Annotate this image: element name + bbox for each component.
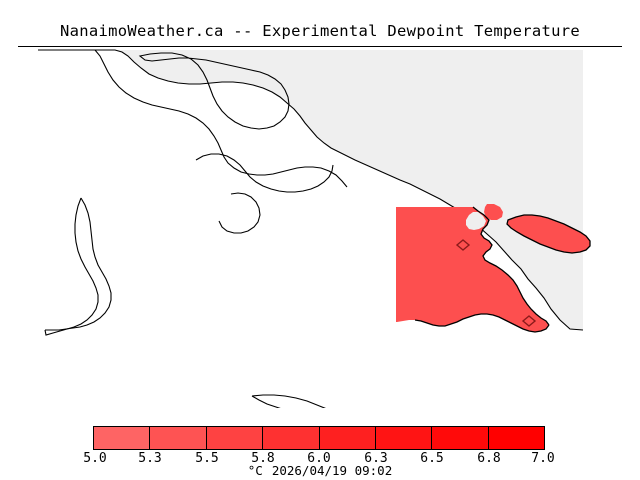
colorbar-segment-7 [432, 427, 488, 449]
colorbar-caption: °C2026/04/19 09:02 [0, 463, 640, 478]
colorbar-segment-1 [94, 427, 150, 449]
page-title: NanaimoWeather.ca -- Experimental Dewpoi… [0, 22, 640, 40]
colorbar-segment-5 [320, 427, 376, 449]
title-divider [18, 46, 622, 47]
map-graphic [0, 48, 640, 408]
map-canvas[interactable] [0, 48, 640, 408]
colorbar-segment-4 [263, 427, 319, 449]
coastline-island-south-chain [252, 395, 378, 408]
weather-map-page: NanaimoWeather.ca -- Experimental Dewpoi… [0, 0, 640, 480]
colorbar-segment-8 [489, 427, 544, 449]
coastline-island-south-chain-lower [252, 396, 378, 408]
timestamp-label: 2026/04/19 09:02 [272, 463, 392, 478]
colorbar-segment-6 [376, 427, 432, 449]
colorbar-segment-2 [150, 427, 206, 449]
colorbar-segment-3 [207, 427, 263, 449]
coastline-peninsula-mid [196, 154, 333, 192]
coastline-island-west-strip [45, 198, 111, 330]
coastline-island-west-strip-inner [45, 198, 98, 335]
colorbar[interactable] [93, 426, 545, 450]
units-label: °C [248, 463, 263, 478]
coastline-hook-detail [219, 193, 260, 233]
